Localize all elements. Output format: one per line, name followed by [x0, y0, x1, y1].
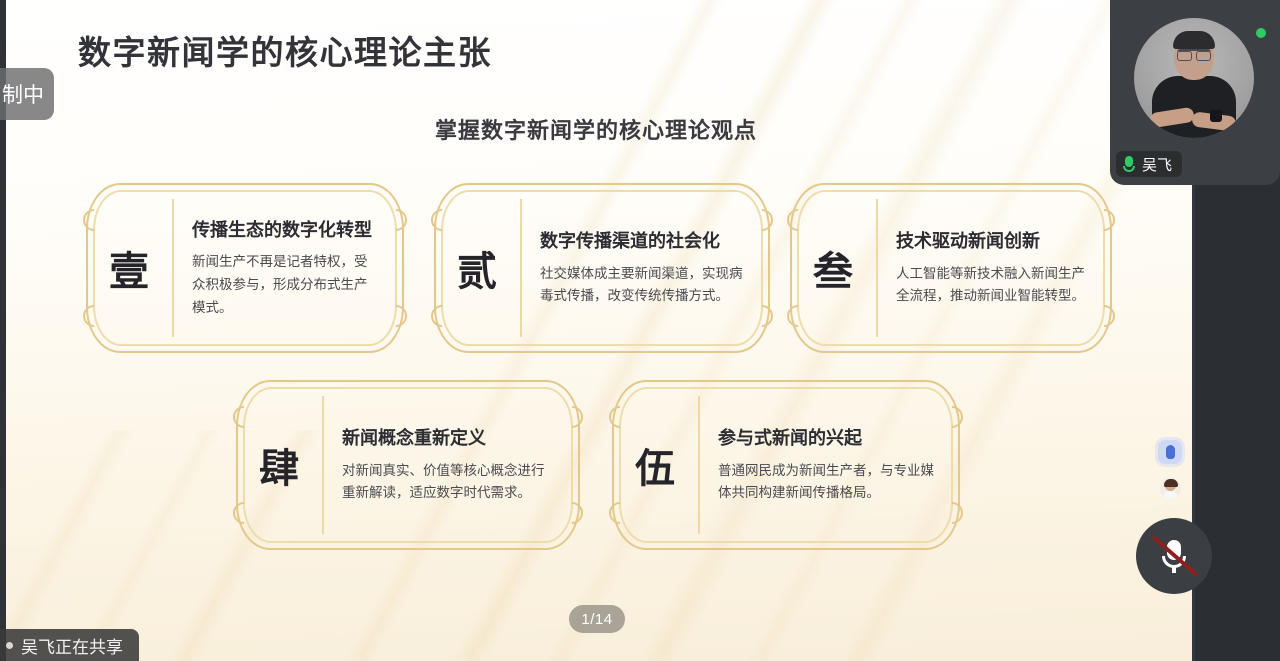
presence-dot-icon — [1256, 28, 1266, 38]
card-description: 社交媒体成主要新闻渠道，实现病毒式传播，改变传统传播方式。 — [540, 263, 744, 308]
page-title: 数字新闻学的核心理论主张 — [78, 26, 492, 74]
concept-card: 叁 技术驱动新闻创新 人工智能等新技术融入新闻生产全流程，推动新闻业智能转型。 — [790, 183, 1112, 353]
card-description: 人工智能等新技术融入新闻生产全流程，推动新闻业智能转型。 — [896, 263, 1086, 308]
card-heading: 新闻概念重新定义 — [342, 427, 554, 451]
card-description: 普通网民成为新闻生产者，与专业媒体共同构建新闻传播格局。 — [718, 460, 934, 505]
microphone-muted-button[interactable] — [1136, 518, 1212, 594]
concept-card: 壹 传播生态的数字化转型 新闻生产不再是记者特权，受众积极参与，形成分布式生产模… — [86, 183, 404, 353]
avatar-hair — [1173, 31, 1215, 49]
presenter-video-tile[interactable]: 吴飞 — [1110, 0, 1280, 185]
card-numeral: 叁 — [790, 183, 876, 353]
card-heading: 数字传播渠道的社会化 — [540, 230, 744, 254]
concept-card: 贰 数字传播渠道的社会化 社交媒体成主要新闻渠道，实现病毒式传播，改变传统传播方… — [434, 183, 770, 353]
card-numeral: 肆 — [236, 380, 322, 550]
avatar-watch — [1210, 110, 1222, 122]
recording-status-badge: 制中 — [0, 68, 54, 120]
card-heading: 技术驱动新闻创新 — [896, 230, 1086, 254]
card-description: 对新闻真实、价值等核心概念进行重新解读，适应数字时代需求。 — [342, 460, 554, 505]
card-body: 参与式新闻的兴起 普通网民成为新闻生产者，与专业媒体共同构建新闻传播格局。 — [698, 380, 960, 550]
shared-screen-stage[interactable]: 数字新闻学的核心理论主张 掌握数字新闻学的核心理论观点 壹 传播生态的数字化转型… — [0, 0, 1192, 661]
card-description: 新闻生产不再是记者特权，受众积极参与，形成分布式生产模式。 — [192, 251, 378, 319]
card-body: 新闻概念重新定义 对新闻真实、价值等核心概念进行重新解读，适应数字时代需求。 — [322, 380, 580, 550]
slide-subtitle: 掌握数字新闻学的核心理论观点 — [0, 113, 1192, 145]
meeting-window: 数字新闻学的核心理论主张 掌握数字新闻学的核心理论观点 壹 传播生态的数字化转型… — [0, 0, 1280, 661]
card-body: 数字传播渠道的社会化 社交媒体成主要新闻渠道，实现病毒式传播，改变传统传播方式。 — [520, 183, 770, 353]
slide-page-indicator: 1/14 — [569, 605, 625, 633]
card-heading: 参与式新闻的兴起 — [718, 427, 934, 451]
sharing-indicator-icon — [6, 642, 13, 649]
sharing-status-text: 吴飞正在共享 — [21, 633, 123, 658]
concept-card: 肆 新闻概念重新定义 对新闻真实、价值等核心概念进行重新解读，适应数字时代需求。 — [236, 380, 580, 550]
participant-name: 吴飞 — [1142, 154, 1172, 175]
card-heading: 传播生态的数字化转型 — [192, 219, 378, 243]
avatar — [1134, 18, 1254, 138]
participant-name-chip: 吴飞 — [1116, 151, 1182, 177]
microphone-icon — [1122, 155, 1136, 173]
card-body: 传播生态的数字化转型 新闻生产不再是记者特权，受众积极参与，形成分布式生产模式。 — [172, 183, 404, 353]
microphone-small-icon[interactable] — [1158, 440, 1182, 464]
card-numeral: 壹 — [86, 183, 172, 353]
card-numeral: 伍 — [612, 380, 698, 550]
card-numeral: 贰 — [434, 183, 520, 353]
concept-card: 伍 参与式新闻的兴起 普通网民成为新闻生产者，与专业媒体共同构建新闻传播格局。 — [612, 380, 960, 550]
participant-avatar-icon[interactable] — [1160, 478, 1181, 499]
screen-sharing-status-bar: 吴飞正在共享 — [0, 629, 139, 661]
card-body: 技术驱动新闻创新 人工智能等新技术融入新闻生产全流程，推动新闻业智能转型。 — [876, 183, 1112, 353]
glasses-icon — [1177, 49, 1211, 58]
